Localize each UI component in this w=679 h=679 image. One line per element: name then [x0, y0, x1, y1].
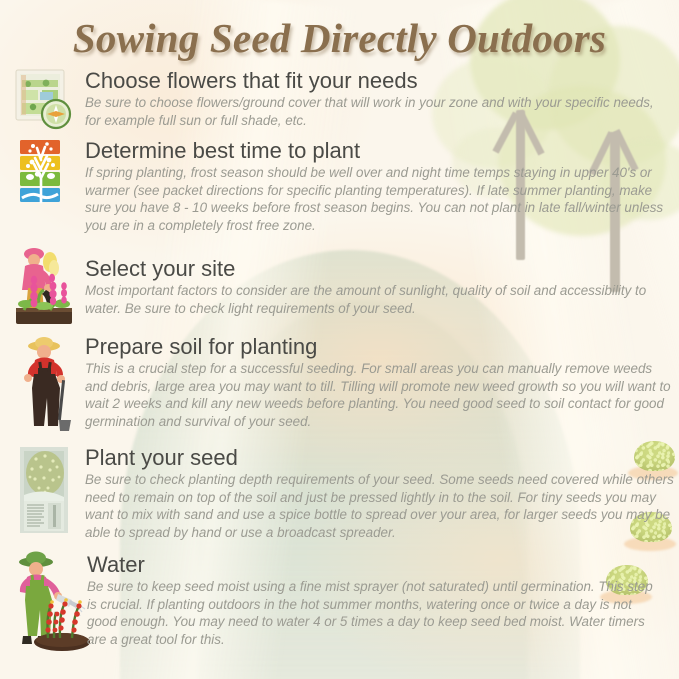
infographic-poster: Sowing Seed Directly Outdoors	[0, 0, 679, 679]
section-heading: Choose flowers that fit your needs	[85, 68, 670, 93]
gardener-planting-flowerbox-icon	[10, 244, 78, 335]
seed-packet-icon	[14, 443, 76, 544]
gardener-watering-flowers-icon	[10, 548, 90, 657]
section-body: This is a crucial step for a successful …	[85, 360, 677, 430]
four-seasons-tree-icon	[14, 138, 66, 215]
farmer-with-shovel-icon	[12, 334, 78, 437]
section-heading: Determine best time to plant	[85, 138, 677, 163]
section-body: Be sure to check planting depth requirem…	[85, 471, 677, 541]
page-title: Sowing Seed Directly Outdoors	[73, 14, 606, 62]
garden-plan-compass-icon	[12, 66, 74, 137]
section-heading: Prepare soil for planting	[85, 334, 677, 359]
section-body: If spring planting, frost season should …	[85, 164, 677, 234]
section-heading: Select your site	[85, 256, 655, 281]
poster-title-container: Sowing Seed Directly Outdoors	[0, 14, 679, 62]
section-body: Be sure to keep seed moist using a fine …	[87, 578, 653, 648]
section-body: Most important factors to consider are t…	[85, 282, 655, 317]
section-heading: Plant your seed	[85, 445, 677, 470]
section-heading: Water	[87, 552, 653, 577]
section-body: Be sure to choose flowers/ground cover t…	[85, 94, 670, 129]
